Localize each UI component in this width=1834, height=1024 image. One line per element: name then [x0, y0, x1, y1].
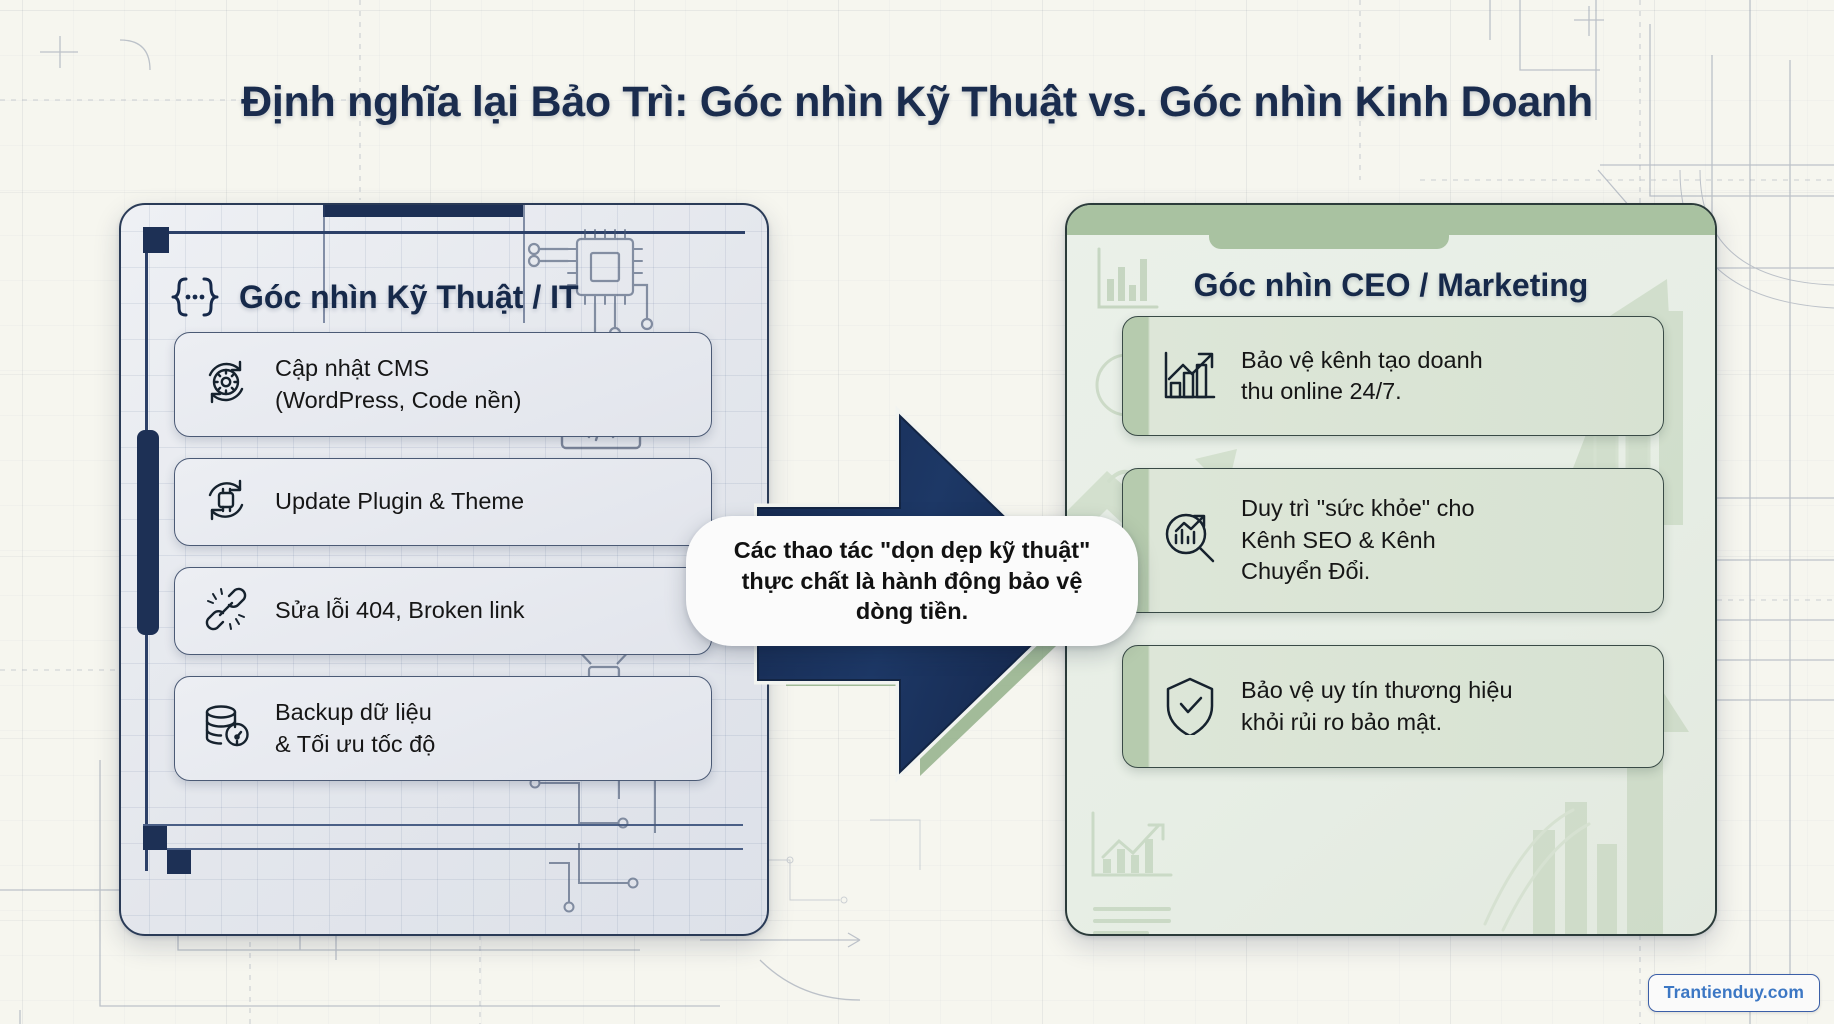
technical-panel-header: Góc nhìn Kỹ Thuật / IT [169, 273, 579, 321]
growth-chart-icon [1087, 805, 1177, 885]
shield-check-icon [1159, 673, 1221, 740]
panel-side-tab [137, 430, 159, 635]
tech-item-label: Backup dữ liệu & Tối ưu tốc độ [275, 697, 435, 760]
biz-item-0[interactable]: Bảo vệ kênh tạo doanh thu online 24/7. [1122, 316, 1664, 436]
watermark-badge[interactable]: Trantienduy.com [1648, 974, 1820, 1012]
code-braces-icon [169, 273, 221, 321]
gear-refresh-icon [197, 353, 255, 416]
center-callout: Các thao tác "dọn dẹp kỹ thuật" thực chấ… [686, 516, 1138, 646]
lines-icon [1089, 901, 1175, 936]
technical-panel: Góc nhìn Kỹ Thuật / IT [119, 203, 769, 936]
biz-item-1[interactable]: Duy trì "sức khỏe" cho Kênh SEO & Kênh C… [1122, 468, 1664, 613]
broken-link-icon [197, 580, 255, 643]
tech-item-0[interactable]: Cập nhật CMS (WordPress, Code nền) [174, 332, 712, 437]
panel-corner-square-bottom-1 [143, 826, 167, 850]
technical-panel-title: Góc nhìn Kỹ Thuật / IT [239, 279, 579, 316]
business-panel-header: Góc nhìn CEO / Marketing [1067, 267, 1715, 304]
panel-corner-square-bottom-2 [167, 850, 191, 874]
tech-item-label: Update Plugin & Theme [275, 486, 524, 517]
page-title: Định nghĩa lại Bảo Trì: Góc nhìn Kỹ Thuậ… [0, 78, 1834, 127]
tech-item-label: Cập nhật CMS (WordPress, Code nền) [275, 353, 521, 416]
plugin-refresh-icon [197, 471, 255, 534]
biz-item-label: Duy trì "sức khỏe" cho Kênh SEO & Kênh C… [1241, 493, 1475, 587]
biz-item-2[interactable]: Bảo vệ uy tín thương hiệu khỏi rủi ro bả… [1122, 645, 1664, 768]
panel-tab-notch [1209, 235, 1449, 249]
business-panel: Góc nhìn CEO / Marketing Bảo vệ kênh tạo… [1065, 203, 1717, 936]
callout-text: Các thao tác "dọn dẹp kỹ thuật" thực chấ… [734, 535, 1091, 627]
tech-item-2[interactable]: Sửa lỗi 404, Broken link [174, 567, 712, 655]
business-panel-title: Góc nhìn CEO / Marketing [1194, 267, 1589, 304]
tech-item-label: Sửa lỗi 404, Broken link [275, 595, 525, 626]
panel-corner-square [143, 227, 169, 253]
infographic-canvas: Định nghĩa lại Bảo Trì: Góc nhìn Kỹ Thuậ… [0, 0, 1834, 1024]
growth-bar-arrow-icon [1159, 343, 1221, 410]
database-speed-icon [197, 697, 255, 760]
biz-item-label: Bảo vệ kênh tạo doanh thu online 24/7. [1241, 345, 1483, 408]
tech-item-3[interactable]: Backup dữ liệu & Tối ưu tốc độ [174, 676, 712, 781]
search-analytics-icon [1159, 507, 1221, 574]
panel-top-accent-bar [323, 205, 523, 217]
biz-item-label: Bảo vệ uy tín thương hiệu khỏi rủi ro bả… [1241, 675, 1513, 738]
tech-item-1[interactable]: Update Plugin & Theme [174, 458, 712, 546]
